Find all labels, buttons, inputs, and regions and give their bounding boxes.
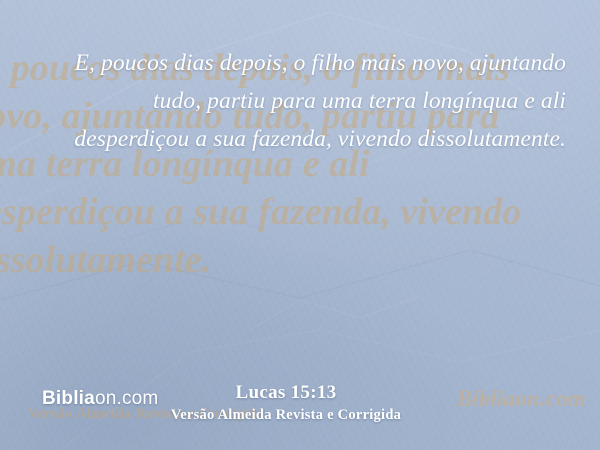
- verse-card: E, poucos dias depois, o filho mais novo…: [0, 0, 600, 450]
- card-footer: Bibliaon.com Lucas 15:13 Versão Almeida …: [0, 378, 600, 450]
- reference-block: Lucas 15:13 Versão Almeida Revista e Cor…: [0, 382, 600, 424]
- verse-reference: Lucas 15:13: [0, 382, 600, 404]
- verse-text: E, poucos dias depois, o filho mais novo…: [40, 44, 566, 158]
- bible-version: Versão Almeida Revista e Corrigida: [0, 407, 600, 424]
